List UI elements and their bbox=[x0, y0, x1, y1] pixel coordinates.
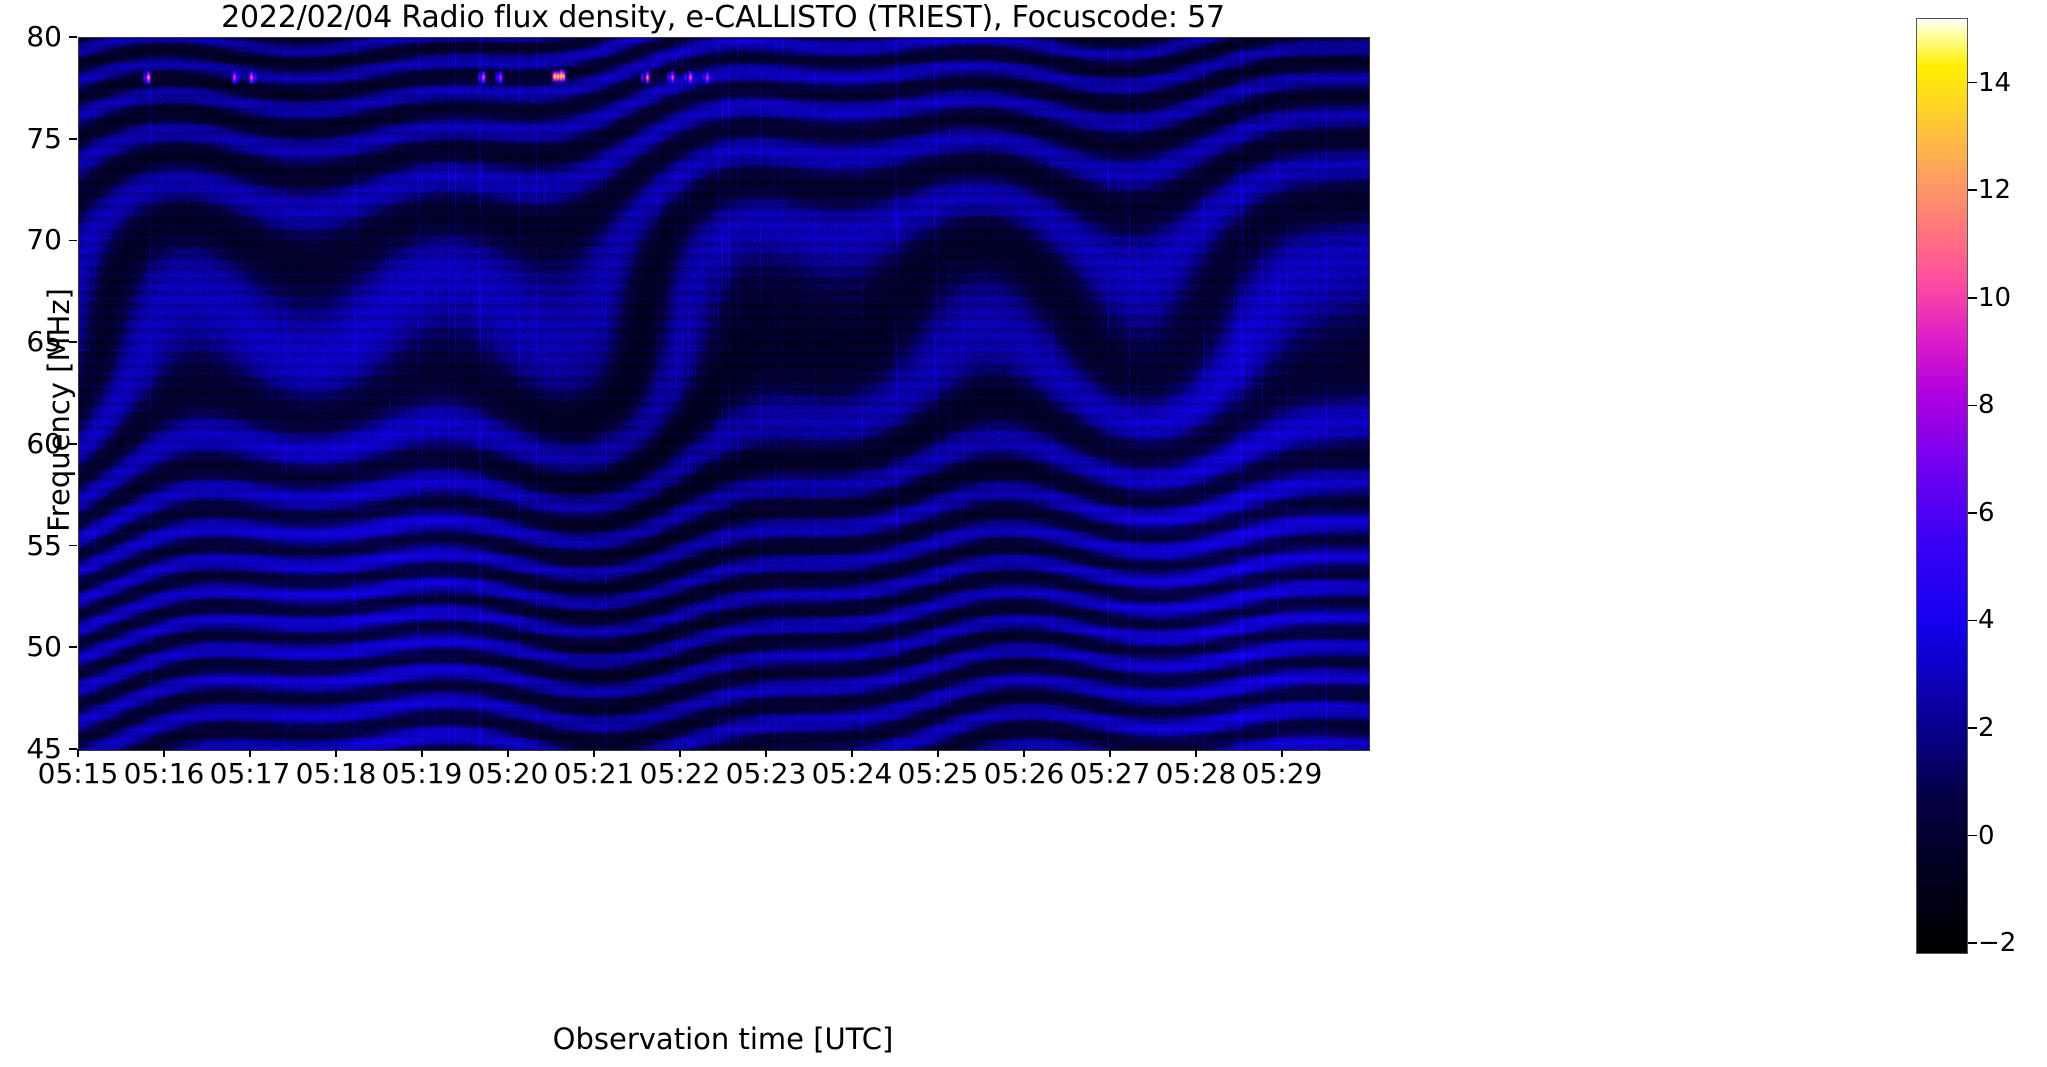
colorbar-tick-mark bbox=[1968, 942, 1977, 944]
x-tick-mark bbox=[937, 749, 939, 757]
x-tick-mark bbox=[1023, 749, 1025, 757]
y-tick-mark bbox=[69, 545, 77, 547]
y-tick-mark bbox=[69, 36, 77, 38]
colorbar-label-host: dB above background bbox=[1988, 18, 2028, 954]
y-tick-mark bbox=[69, 240, 77, 242]
page-title: 2022/02/04 Radio flux density, e-CALLIST… bbox=[78, 2, 1368, 34]
y-tick-mark bbox=[69, 646, 77, 648]
dynamic-spectrum-image bbox=[79, 38, 1369, 750]
x-tick-mark bbox=[249, 749, 251, 757]
x-tick-mark bbox=[77, 749, 79, 757]
figure-root: 2022/02/04 Radio flux density, e-CALLIST… bbox=[0, 0, 2047, 1067]
colorbar-tick-mark bbox=[1968, 297, 1977, 299]
colorbar-gradient bbox=[1917, 19, 1967, 953]
colorbar-tick-mark bbox=[1968, 82, 1977, 84]
x-tick-mark bbox=[1281, 749, 1283, 757]
y-tick-label: 65 bbox=[4, 325, 62, 359]
colorbar-tick-mark bbox=[1968, 727, 1977, 729]
colorbar-tick-mark bbox=[1968, 405, 1977, 407]
colorbar-tick-mark bbox=[1968, 189, 1977, 191]
y-tick-label: 70 bbox=[4, 223, 62, 257]
colorbar[interactable] bbox=[1916, 18, 1968, 954]
x-tick-mark bbox=[679, 749, 681, 757]
x-tick-mark bbox=[507, 749, 509, 757]
y-tick-label: 80 bbox=[4, 20, 62, 54]
y-tick-label: 75 bbox=[4, 122, 62, 156]
x-tick-mark bbox=[765, 749, 767, 757]
y-tick-label: 60 bbox=[4, 427, 62, 461]
x-tick-mark bbox=[851, 749, 853, 757]
x-tick-mark bbox=[1195, 749, 1197, 757]
x-axis-label: Observation time [UTC] bbox=[78, 1022, 1368, 1056]
spectrogram-axes[interactable] bbox=[78, 37, 1370, 751]
colorbar-tick-mark bbox=[1968, 512, 1977, 514]
y-tick-mark bbox=[69, 138, 77, 140]
x-tick-mark bbox=[1109, 749, 1111, 757]
x-tick-label: 05:29 bbox=[1207, 757, 1357, 791]
colorbar-tick-mark bbox=[1968, 620, 1977, 622]
colorbar-tick-mark bbox=[1968, 835, 1977, 837]
y-tick-label: 55 bbox=[4, 529, 62, 563]
y-tick-label: 50 bbox=[4, 630, 62, 664]
y-tick-mark bbox=[69, 443, 77, 445]
colorbar-group: 14121086420−2 bbox=[1916, 18, 1968, 954]
x-tick-mark bbox=[163, 749, 165, 757]
x-tick-mark bbox=[335, 749, 337, 757]
x-tick-group: 05:1505:1605:1705:1805:1905:2005:2105:22… bbox=[0, 749, 1450, 809]
y-tick-mark bbox=[69, 341, 77, 343]
x-tick-mark bbox=[593, 749, 595, 757]
x-tick-mark bbox=[421, 749, 423, 757]
